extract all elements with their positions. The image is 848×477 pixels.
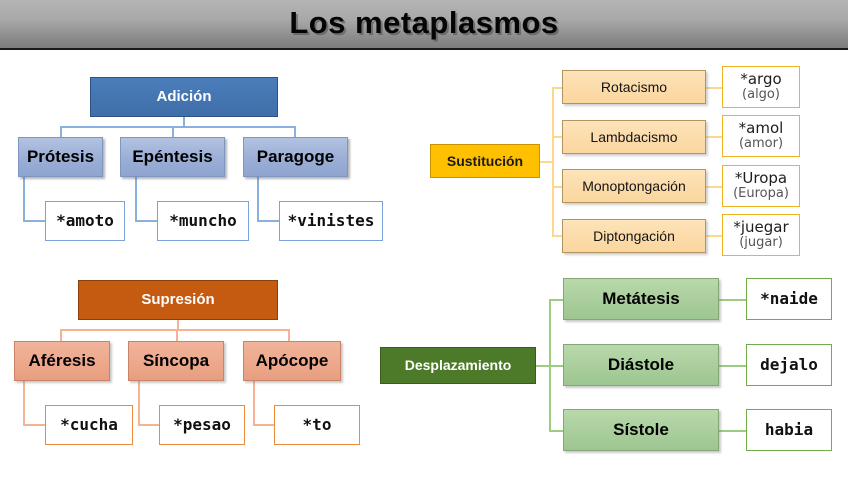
example-text: *argo: [740, 72, 781, 88]
example-original: (algo): [742, 88, 780, 102]
node-label: Metátesis: [602, 290, 679, 308]
node-label: Síncopa: [143, 352, 209, 370]
connector-adicion-leaf-1-h: [23, 220, 45, 222]
example-apocope[interactable]: *to: [274, 405, 360, 445]
connector-desplazamiento-branch-2: [549, 365, 563, 367]
node-label: Apócope: [256, 352, 329, 370]
connector-supresion-drop-3: [288, 329, 290, 341]
node-apocope[interactable]: Apócope: [243, 341, 341, 381]
example-text: *juegar: [733, 220, 788, 236]
example-text: *Uropa: [735, 171, 787, 187]
node-label: Supresión: [141, 292, 214, 308]
example-protesis[interactable]: *amoto: [45, 201, 125, 241]
connector-supresion-drop-1: [60, 329, 62, 341]
title-bar: Los metaplasmos: [0, 0, 848, 50]
example-text: *amoto: [56, 213, 114, 230]
node-label: Diptongación: [593, 229, 675, 244]
node-label: Diástole: [608, 356, 674, 374]
node-paragoge[interactable]: Paragoge: [243, 137, 348, 177]
example-text: *naide: [760, 291, 818, 308]
example-text: *vinistes: [288, 213, 375, 230]
example-monoptongacion[interactable]: *Uropa (Europa): [722, 165, 800, 207]
example-lambdacismo[interactable]: *amol (amor): [722, 115, 800, 157]
example-original: (Europa): [733, 187, 789, 201]
node-sincopa[interactable]: Síncopa: [128, 341, 224, 381]
node-label: Adición: [157, 89, 212, 105]
connector-supresion-bus: [60, 329, 290, 331]
node-label: Lambdacismo: [590, 130, 677, 145]
node-lambdacismo[interactable]: Lambdacismo: [562, 120, 706, 154]
node-label: Rotacismo: [601, 80, 667, 95]
connector-supresion-leaf-1-v: [23, 381, 25, 425]
example-metatesis[interactable]: *naide: [746, 278, 832, 320]
example-diastole[interactable]: dejalo: [746, 344, 832, 386]
node-label: Paragoge: [257, 148, 334, 166]
connector-sustitucion-leaf-1: [706, 87, 722, 89]
connector-adicion-bus: [60, 126, 296, 128]
example-text: *amol: [739, 121, 784, 137]
connector-supresion-leaf-1-h: [23, 424, 45, 426]
node-label: Aféresis: [28, 352, 95, 370]
node-label: Epéntesis: [132, 148, 212, 166]
node-protesis[interactable]: Prótesis: [18, 137, 103, 177]
connector-desplazamiento-branch-3: [549, 430, 563, 432]
connector-supresion-leaf-3-v: [253, 381, 255, 425]
connector-desplazamiento-leaf-3: [719, 430, 746, 432]
node-label: Sístole: [613, 421, 669, 439]
connector-desplazamiento-leaf-2: [719, 365, 746, 367]
example-epentesis[interactable]: *muncho: [157, 201, 249, 241]
connector-adicion-leaf-3-v: [257, 177, 259, 221]
connector-adicion-leaf-2-h: [135, 220, 157, 222]
connector-desplazamiento-stem: [536, 365, 550, 367]
example-sincopa[interactable]: *pesao: [159, 405, 245, 445]
connector-desplazamiento-leaf-1: [719, 299, 746, 301]
connector-supresion-leaf-2-h: [138, 424, 160, 426]
node-aferesis[interactable]: Aféresis: [14, 341, 110, 381]
connector-adicion-leaf-2-v: [135, 177, 137, 221]
node-desplazamiento-root[interactable]: Desplazamiento: [380, 347, 536, 384]
connector-sustitucion-leaf-3: [706, 186, 722, 188]
example-original: (amor): [739, 137, 783, 151]
node-label: Monoptongación: [582, 179, 686, 194]
page-title: Los metaplasmos: [0, 0, 848, 48]
node-label: Sustitución: [447, 154, 523, 169]
example-aferesis[interactable]: *cucha: [45, 405, 133, 445]
connector-supresion-leaf-2-v: [138, 381, 140, 425]
connector-sustitucion-leaf-2: [706, 136, 722, 138]
example-original: (jugar): [739, 236, 783, 250]
node-label: Prótesis: [27, 148, 94, 166]
example-text: *muncho: [169, 213, 236, 230]
example-sistole[interactable]: habia: [746, 409, 832, 451]
example-text: *cucha: [60, 417, 118, 434]
example-text: habia: [765, 422, 813, 439]
connector-adicion-leaf-1-v: [23, 177, 25, 221]
example-paragoge[interactable]: *vinistes: [279, 201, 383, 241]
connector-supresion-drop-2: [176, 329, 178, 341]
connector-desplazamiento-branch-1: [549, 299, 563, 301]
example-diptongacion[interactable]: *juegar (jugar): [722, 214, 800, 256]
node-rotacismo[interactable]: Rotacismo: [562, 70, 706, 104]
node-supresion-root[interactable]: Supresión: [78, 280, 278, 320]
example-rotacismo[interactable]: *argo (algo): [722, 66, 800, 108]
example-text: *pesao: [173, 417, 231, 434]
node-diastole[interactable]: Diástole: [563, 344, 719, 386]
connector-adicion-leaf-3-h: [257, 220, 279, 222]
connector-sustitucion-leaf-4: [706, 235, 722, 237]
connector-supresion-leaf-3-h: [253, 424, 275, 426]
node-adicion-root[interactable]: Adición: [90, 77, 278, 117]
node-monoptongacion[interactable]: Monoptongación: [562, 169, 706, 203]
connector-sustitucion-bus: [552, 87, 554, 236]
example-text: dejalo: [760, 357, 818, 374]
node-metatesis[interactable]: Metátesis: [563, 278, 719, 320]
node-label: Desplazamiento: [405, 358, 512, 373]
node-diptongacion[interactable]: Diptongación: [562, 219, 706, 253]
node-sustitucion-root[interactable]: Sustitución: [430, 144, 540, 178]
node-epentesis[interactable]: Epéntesis: [120, 137, 225, 177]
example-text: *to: [303, 417, 332, 434]
node-sistole[interactable]: Sístole: [563, 409, 719, 451]
